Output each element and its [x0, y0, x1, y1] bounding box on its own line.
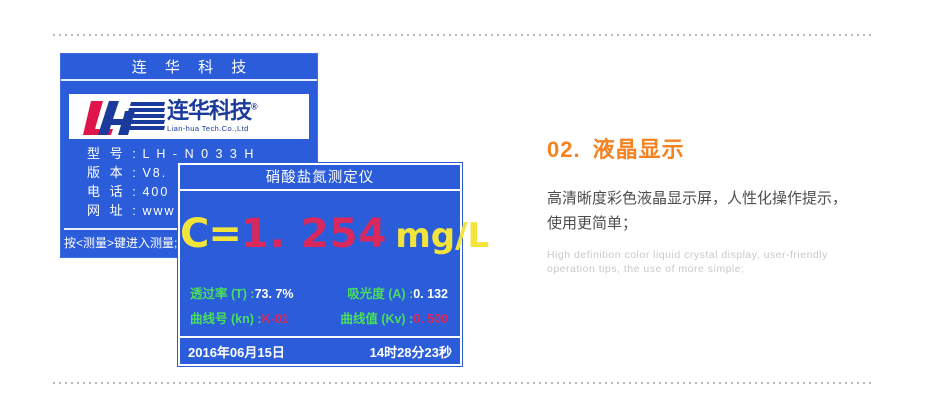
bottom-dotted-divider: [53, 382, 871, 384]
spec-label-phone: 电 话 :: [87, 184, 139, 199]
spec-label-model: 型 号 :: [87, 146, 139, 161]
lcd-screen-body: C=1. 254mg/L 透过率 (T) :73. 7% 吸光度 (A) :0.…: [180, 191, 460, 332]
spec-value-model: L H - N 0 3 3 H: [142, 147, 255, 161]
brand-name-en: Lian-hua Tech.Co.,Ltd: [167, 125, 257, 133]
spec-value-version: V8.: [142, 166, 167, 180]
stat-row-transmittance-absorbance: 透过率 (T) :73. 7% 吸光度 (A) :0. 132: [190, 283, 452, 302]
brand-name-cn: 连华科技®: [167, 100, 257, 122]
stat-value-curve-number: K-01: [262, 312, 289, 326]
lh-monogram-icon: [73, 97, 165, 137]
stat-label-curve-number: 曲线号 (kn) :: [190, 312, 262, 326]
feature-description-en: High definition color liquid crystal dis…: [547, 248, 867, 276]
feature-description-cn: 高清晰度彩色液晶显示屏，人性化操作提示，使用更简单；: [547, 186, 859, 236]
spec-value-phone: 400: [142, 185, 169, 199]
lcd-stats-grid: 透过率 (T) :73. 7% 吸光度 (A) :0. 132 曲线号 (kn)…: [190, 283, 452, 333]
feature-number: 02.: [547, 137, 581, 162]
stat-curve-number: 曲线号 (kn) :K-01: [190, 308, 289, 327]
stat-label-absorbance: 吸光度 (A) :: [347, 287, 413, 301]
spec-label-website: 网 址 :: [87, 203, 139, 218]
reading-value: 1. 254: [241, 211, 387, 257]
stat-label-curve-value: 曲线值 (Kv) :: [340, 312, 413, 326]
stat-value-transmittance: 73. 7%: [255, 287, 294, 301]
stat-transmittance: 透过率 (T) :73. 7%: [190, 283, 294, 302]
brand-logo-wordmark: 连华科技® Lian-hua Tech.Co.,Ltd: [167, 100, 257, 133]
stat-absorbance: 吸光度 (A) :0. 132: [347, 283, 448, 302]
lcd-screen-title: 硝酸盐氮测定仪: [180, 165, 460, 191]
reading-unit: mg/L: [395, 216, 489, 256]
stat-value-absorbance: 0. 132: [413, 287, 448, 301]
brand-logo: 连华科技® Lian-hua Tech.Co.,Ltd: [69, 94, 309, 139]
top-dotted-divider: [53, 34, 871, 36]
lcd-screen-panel: 硝酸盐氮测定仪 C=1. 254mg/L 透过率 (T) :73. 7% 吸光度…: [178, 163, 462, 366]
instrument-illustration: 连 华 科 技 连华科技® Lian-hua Tech.Co.,Ltd: [60, 53, 462, 366]
feature-heading-cn: 液晶显示: [593, 137, 685, 162]
stat-curve-value: 曲线值 (Kv) :0. 500: [340, 308, 448, 327]
registered-trademark-icon: ®: [251, 102, 257, 112]
lcd-time: 14时28分23秒: [370, 342, 452, 361]
feature-heading: 02.液晶显示: [547, 132, 887, 164]
stat-row-curve: 曲线号 (kn) :K-01 曲线值 (Kv) :0. 500: [190, 308, 452, 327]
stat-label-transmittance: 透过率 (T) :: [190, 287, 255, 301]
stat-value-curve-value: 0. 500: [413, 312, 448, 326]
spec-label-version: 版 本 :: [87, 165, 139, 180]
feature-copy-block: 02.液晶显示 高清晰度彩色液晶显示屏，人性化操作提示，使用更简单； High …: [547, 132, 887, 276]
lcd-date: 2016年06月15日: [188, 342, 285, 361]
lcd-main-reading: C=1. 254mg/L: [180, 191, 460, 257]
product-info-title: 连 华 科 技: [61, 54, 317, 81]
spec-row-model: 型 号 : L H - N 0 3 3 H: [87, 144, 317, 163]
spec-value-website: www: [142, 204, 175, 218]
reading-prefix: C=: [180, 211, 241, 257]
lcd-status-bar: 2016年06月15日 14时28分23秒: [180, 336, 460, 364]
